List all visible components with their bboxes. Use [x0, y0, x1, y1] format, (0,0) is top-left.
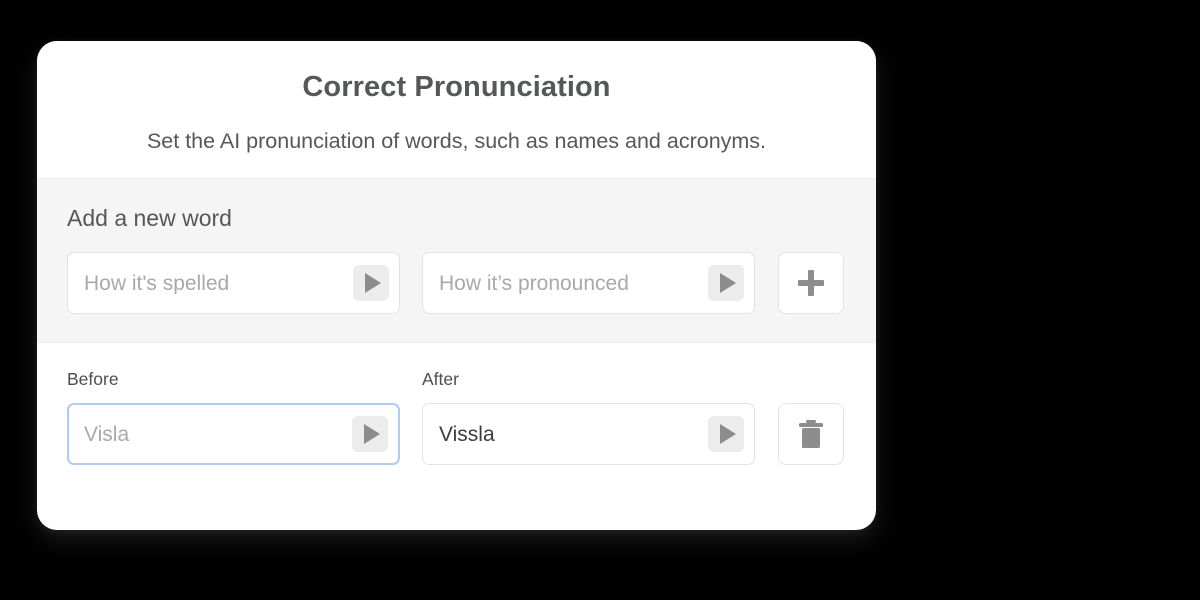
pronounced-play-button[interactable]	[708, 265, 744, 301]
before-input-placeholder: Visla	[84, 424, 352, 445]
play-icon	[720, 424, 736, 444]
before-play-button[interactable]	[352, 416, 388, 452]
pronounced-field-wrap: How it’s pronounced	[422, 252, 755, 314]
add-new-word-heading: Add a new word	[67, 205, 846, 233]
column-header-before: Before	[67, 369, 400, 390]
after-field-wrap: Vissla	[422, 403, 755, 465]
spelled-input-placeholder: How it's spelled	[84, 273, 353, 294]
before-input[interactable]: Visla	[67, 403, 400, 465]
delete-word-button[interactable]	[778, 403, 844, 465]
pronounced-input[interactable]: How it’s pronounced	[422, 252, 755, 314]
plus-icon	[798, 270, 824, 296]
trash-icon	[797, 418, 825, 450]
add-new-word-section: Add a new word How it's spelled How it’s…	[37, 178, 876, 344]
card-header: Correct Pronunciation Set the AI pronunc…	[37, 41, 876, 178]
play-icon	[365, 273, 381, 293]
column-header-after: After	[422, 369, 755, 390]
pronounced-input-placeholder: How it’s pronounced	[439, 273, 708, 294]
after-input-value: Vissla	[439, 424, 708, 445]
after-play-button[interactable]	[708, 416, 744, 452]
add-new-word-row: How it's spelled How it’s pronounced	[67, 252, 846, 314]
page-title: Correct Pronunciation	[67, 69, 846, 107]
word-row: Visla Vissla	[67, 403, 846, 465]
add-word-button[interactable]	[778, 252, 844, 314]
spelled-input[interactable]: How it's spelled	[67, 252, 400, 314]
column-header-row: Before After	[67, 369, 846, 390]
page-subtitle: Set the AI pronunciation of words, such …	[67, 128, 846, 156]
after-input[interactable]: Vissla	[422, 403, 755, 465]
word-list-section: Before After Visla Vissla	[37, 343, 876, 495]
before-field-wrap: Visla	[67, 403, 400, 465]
spelled-play-button[interactable]	[353, 265, 389, 301]
correct-pronunciation-card: Correct Pronunciation Set the AI pronunc…	[37, 41, 876, 530]
screen: Correct Pronunciation Set the AI pronunc…	[0, 0, 1200, 600]
play-icon	[364, 424, 380, 444]
spelled-field-wrap: How it's spelled	[67, 252, 400, 314]
play-icon	[720, 273, 736, 293]
